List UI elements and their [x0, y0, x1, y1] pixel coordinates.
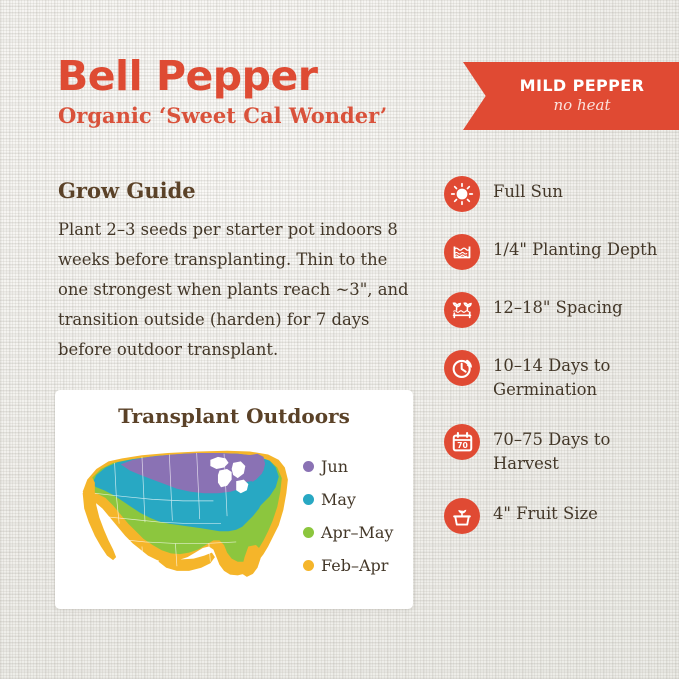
spec-row-germination: 10–14 Days to Germination: [444, 350, 676, 402]
calendar-badge-number: 70: [457, 441, 468, 450]
legend-label-jun: Jun: [321, 459, 348, 475]
calendar-icon: 70: [444, 424, 480, 460]
legend-dot-may: [303, 494, 314, 505]
spec-label-spacing: 12–18" Spacing: [493, 292, 623, 320]
spec-row-spacing: 12–18" Spacing: [444, 292, 676, 328]
spec-row-fruit-size: 4" Fruit Size: [444, 498, 676, 534]
spec-label-germination: 10–14 Days to Germination: [493, 350, 676, 402]
spacing-icon: [444, 292, 480, 328]
heat-level-ribbon: MILD PEPPER no heat: [463, 62, 679, 130]
growing-specs-list: Full Sun 1/4" Planting Depth: [444, 176, 676, 556]
grow-guide-heading: Grow Guide: [58, 178, 196, 203]
spec-label-fruit-size: 4" Fruit Size: [493, 498, 598, 526]
legend-item: Feb–Apr: [303, 549, 393, 582]
legend-label-apr-may: Apr–May: [321, 525, 393, 541]
spec-row-full-sun: Full Sun: [444, 176, 676, 212]
seed-packet: Bell Pepper Organic ‘Sweet Cal Wonder’ M…: [0, 0, 679, 679]
map-title: Transplant Outdoors: [55, 404, 413, 428]
legend-dot-jun: [303, 461, 314, 472]
spec-label-planting-depth: 1/4" Planting Depth: [493, 234, 657, 262]
spec-label-harvest: 70–75 Days to Harvest: [493, 424, 676, 476]
ribbon-sub-label: no heat: [554, 96, 611, 114]
legend-item: Apr–May: [303, 516, 393, 549]
legend-dot-apr-may: [303, 527, 314, 538]
sun-icon: [444, 176, 480, 212]
pot-sprout-icon: [444, 498, 480, 534]
spec-row-harvest: 70 70–75 Days to Harvest: [444, 424, 676, 476]
map-legend: Jun May Apr–May Feb–Apr: [303, 450, 393, 582]
legend-label-feb-apr: Feb–Apr: [321, 558, 388, 574]
page-subtitle: Organic ‘Sweet Cal Wonder’: [58, 105, 387, 126]
legend-item: Jun: [303, 450, 393, 483]
legend-label-may: May: [321, 492, 356, 508]
spec-row-planting-depth: 1/4" Planting Depth: [444, 234, 676, 270]
clock-icon: [444, 350, 480, 386]
page-title: Bell Pepper: [57, 56, 318, 97]
us-zone-map: [69, 438, 297, 598]
transplant-map-card: Transplant Outdoors: [55, 390, 413, 609]
legend-dot-feb-apr: [303, 560, 314, 571]
legend-item: May: [303, 483, 393, 516]
spec-label-full-sun: Full Sun: [493, 176, 563, 204]
grow-guide-body: Plant 2–3 seeds per starter pot indoors …: [58, 215, 410, 365]
ribbon-main-label: MILD PEPPER: [520, 78, 645, 95]
planting-depth-icon: [444, 234, 480, 270]
